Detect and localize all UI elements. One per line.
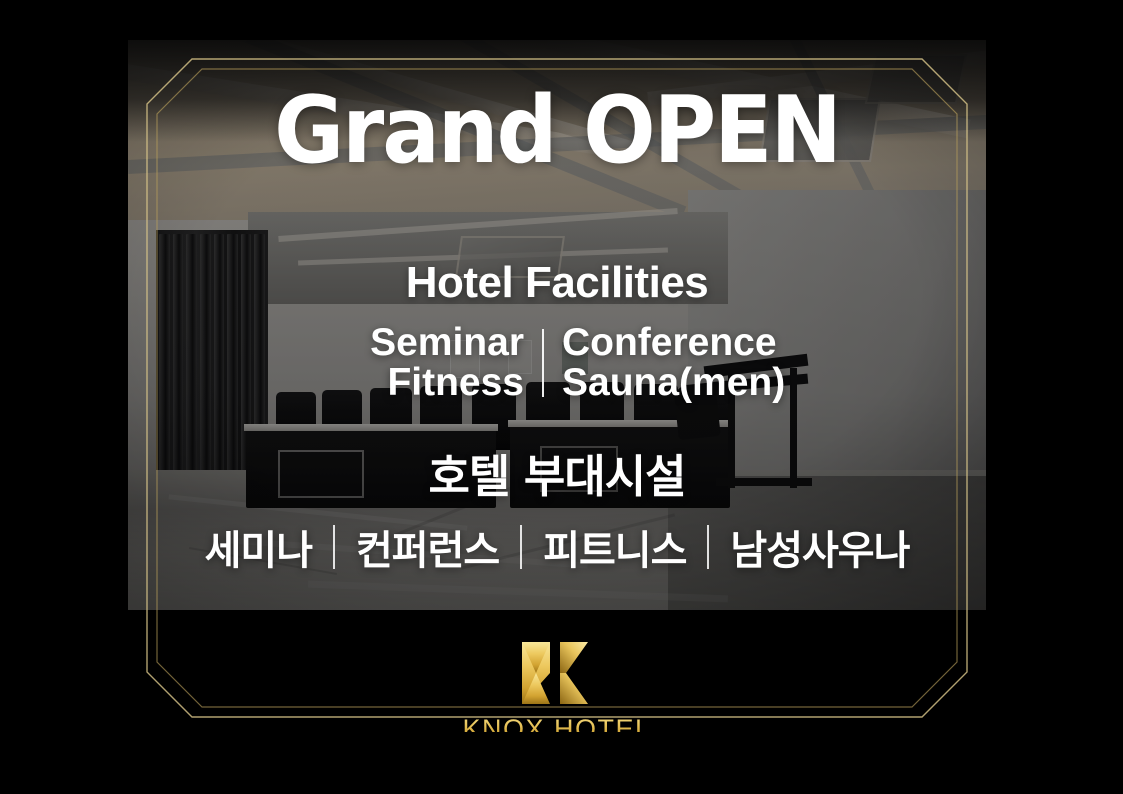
brand-name: KNOX HOTEL bbox=[462, 714, 651, 732]
photo-vignette bbox=[128, 40, 986, 610]
poster-stage: Grand OPEN Hotel Facilities Seminar Fitn… bbox=[0, 0, 1123, 794]
knox-x-logo-icon bbox=[520, 640, 594, 706]
promo-card: Grand OPEN Hotel Facilities Seminar Fitn… bbox=[128, 40, 986, 732]
seminar-room-photo bbox=[128, 40, 986, 610]
brand-logo: KNOX HOTEL bbox=[128, 640, 986, 732]
